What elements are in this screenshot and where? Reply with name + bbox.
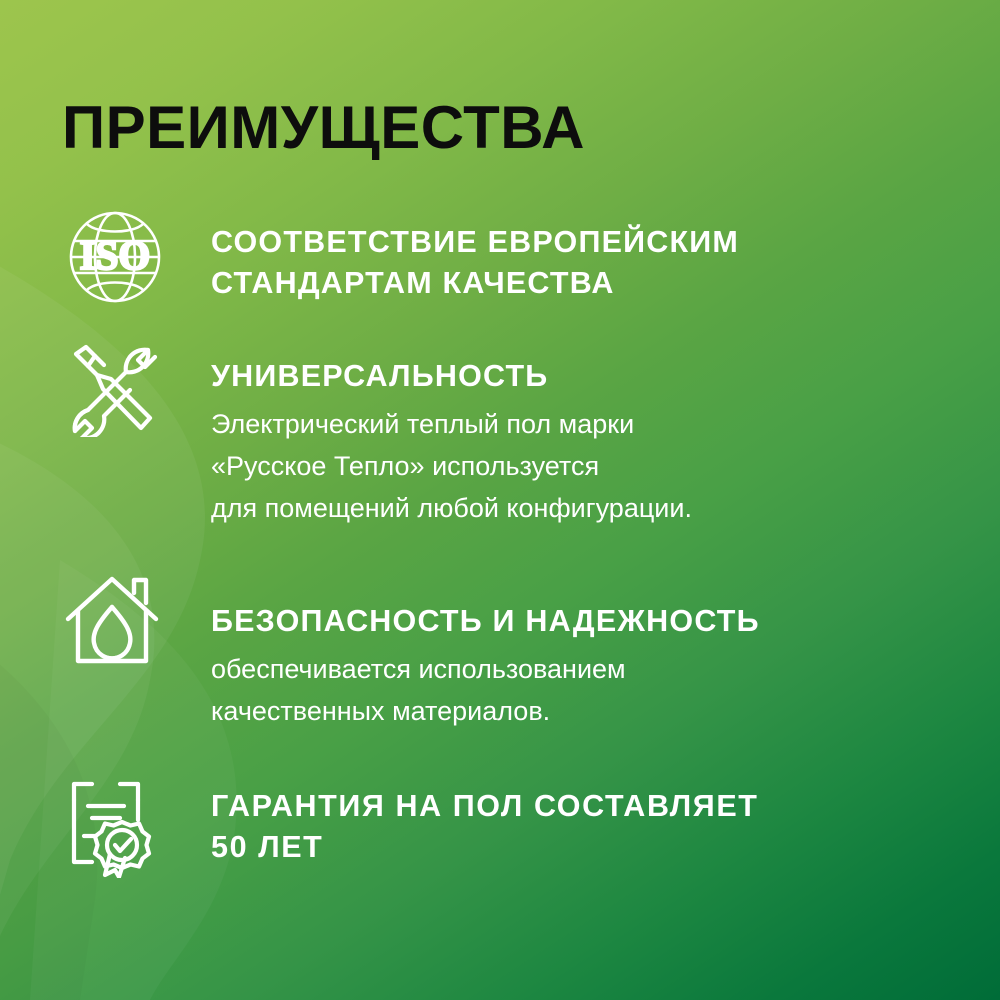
feature-heading-universality: УНИВЕРСАЛЬНОСТЬ — [211, 356, 931, 397]
desc-line: Электрический теплый пол марки — [211, 404, 931, 446]
desc-line: обеспечивается использованием — [211, 649, 931, 691]
feature-body-universality: УНИВЕРСАЛЬНОСТЬ Электрический теплый пол… — [211, 356, 931, 529]
tools-wrench-screwdriver-icon — [62, 341, 172, 437]
heading-line: 50 ЛЕТ — [211, 827, 931, 868]
desc-line: для помещений любой конфигурации. — [211, 488, 931, 530]
feature-description-safety: обеспечивается использованием качественн… — [211, 649, 931, 733]
desc-line: «Русское Тепло» используется — [211, 446, 931, 488]
feature-heading-safety: БЕЗОПАСНОСТЬ И НАДЕЖНОСТЬ — [211, 601, 931, 642]
feature-heading-warranty: ГАРАНТИЯ НА ПОЛ СОСТАВЛЯЕТ 50 ЛЕТ — [211, 786, 931, 868]
heading-line: СООТВЕТСТВИЕ ЕВРОПЕЙСКИМ — [211, 222, 931, 263]
feature-heading-iso: СООТВЕТСТВИЕ ЕВРОПЕЙСКИМ СТАНДАРТАМ КАЧЕ… — [211, 222, 931, 304]
feature-body-warranty: ГАРАНТИЯ НА ПОЛ СОСТАВЛЯЕТ 50 ЛЕТ — [211, 786, 931, 868]
iso-globe-icon: ISO — [62, 207, 172, 307]
iso-label: ISO — [80, 232, 151, 278]
promo-slide: ПРЕИМУЩЕСТВА ISO — [0, 0, 1000, 1000]
feature-body-safety: БЕЗОПАСНОСТЬ И НАДЕЖНОСТЬ обеспечивается… — [211, 601, 931, 733]
heading-line: ГАРАНТИЯ НА ПОЛ СОСТАВЛЯЕТ — [211, 786, 931, 827]
house-flame-icon — [62, 573, 172, 669]
page-title: ПРЕИМУЩЕСТВА — [62, 98, 585, 158]
desc-line: качественных материалов. — [211, 691, 931, 733]
feature-description-universality: Электрический теплый пол марки «Русское … — [211, 404, 931, 530]
certificate-award-icon — [62, 778, 172, 878]
heading-line: СТАНДАРТАМ КАЧЕСТВА — [211, 263, 931, 304]
feature-body-iso: СООТВЕТСТВИЕ ЕВРОПЕЙСКИМ СТАНДАРТАМ КАЧЕ… — [211, 222, 931, 304]
